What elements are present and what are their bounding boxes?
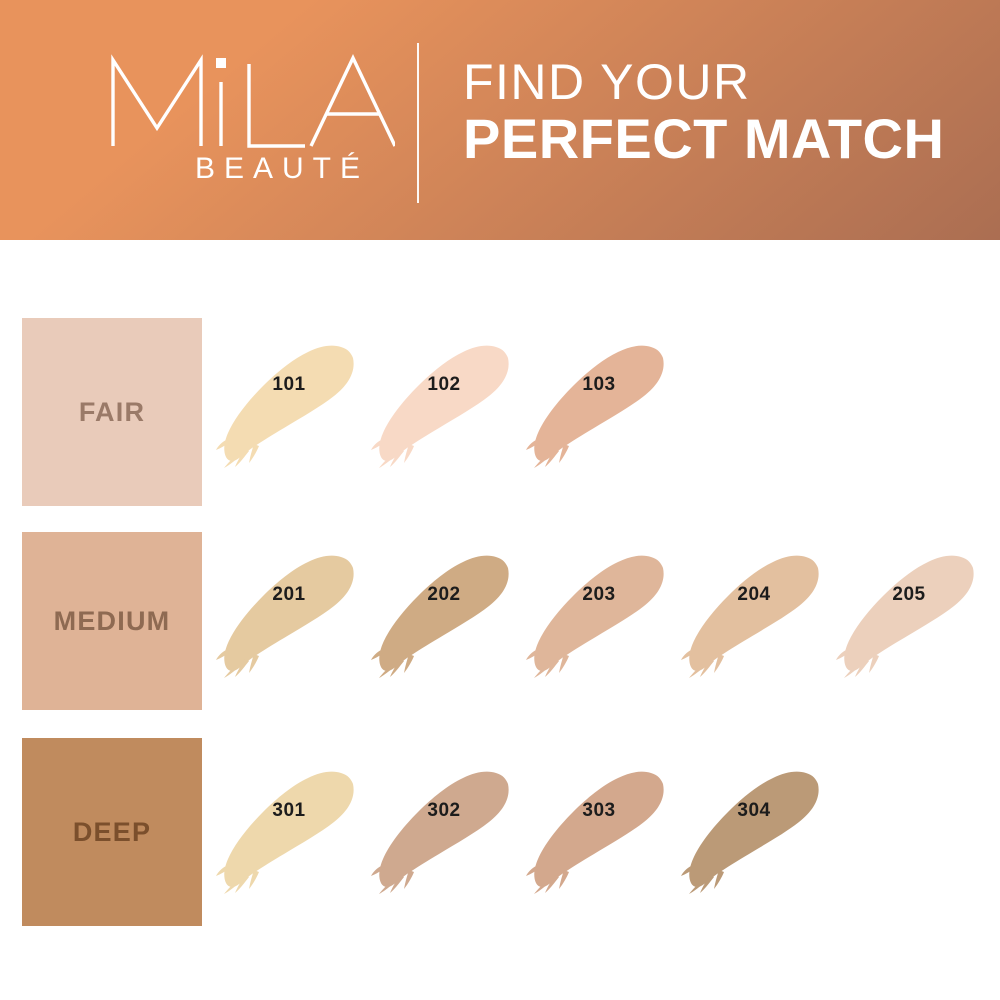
shade-swatch-301[interactable]: 301: [214, 762, 364, 897]
shade-swatch-304[interactable]: 304: [679, 762, 829, 897]
foundation-smear-icon: [524, 546, 674, 681]
shade-swatch-103[interactable]: 103: [524, 336, 674, 471]
foundation-smear-icon: [524, 336, 674, 471]
shade-swatch-205[interactable]: 205: [834, 546, 984, 681]
foundation-smear-icon: [369, 336, 519, 471]
category-block-medium[interactable]: MEDIUM: [22, 532, 202, 710]
shade-code-label: 303: [524, 800, 674, 822]
shade-swatch-102[interactable]: 102: [369, 336, 519, 471]
shade-row-fair: FAIR 101 102 103: [0, 318, 1000, 506]
shade-code-label: 201: [214, 584, 364, 606]
foundation-smear-icon: [834, 546, 984, 681]
category-block-deep[interactable]: DEEP: [22, 738, 202, 926]
logo-wordmark-mila: [105, 42, 395, 150]
logo-i-dot-icon: [216, 58, 226, 68]
shade-code-label: 203: [524, 584, 674, 606]
category-label: DEEP: [73, 817, 151, 848]
shade-swatch-201[interactable]: 201: [214, 546, 364, 681]
tagline-line-2: PERFECT MATCH: [463, 110, 963, 169]
shade-swatch-101[interactable]: 101: [214, 336, 364, 471]
header-tagline: FIND YOUR PERFECT MATCH: [463, 57, 963, 169]
tagline-line-1: FIND YOUR: [463, 57, 963, 108]
foundation-smear-icon: [214, 762, 364, 897]
shade-code-label: 302: [369, 800, 519, 822]
shade-chart-page: BEAUTÉ FIND YOUR PERFECT MATCH FAIR 101 …: [0, 0, 1000, 1000]
mila-wordmark-icon: [105, 42, 395, 154]
shade-swatch-202[interactable]: 202: [369, 546, 519, 681]
foundation-smear-icon: [214, 336, 364, 471]
shade-code-label: 204: [679, 584, 829, 606]
category-block-fair[interactable]: FAIR: [22, 318, 202, 506]
shade-swatch-203[interactable]: 203: [524, 546, 674, 681]
foundation-smear-icon: [679, 762, 829, 897]
shade-code-label: 205: [834, 584, 984, 606]
shade-code-label: 101: [214, 374, 364, 396]
shade-code-label: 103: [524, 374, 674, 396]
foundation-smear-icon: [214, 546, 364, 681]
shade-chart: FAIR 101 102 103MEDIUM 201 202 203: [0, 240, 1000, 1000]
foundation-smear-icon: [369, 762, 519, 897]
page-header: BEAUTÉ FIND YOUR PERFECT MATCH: [0, 0, 1000, 240]
brand-logo[interactable]: BEAUTÉ: [105, 42, 395, 202]
header-divider: [417, 43, 419, 203]
category-label: FAIR: [79, 397, 145, 428]
shade-row-medium: MEDIUM 201 202 203 204 205: [0, 532, 1000, 710]
shade-code-label: 202: [369, 584, 519, 606]
shade-swatch-302[interactable]: 302: [369, 762, 519, 897]
shade-swatch-204[interactable]: 204: [679, 546, 829, 681]
shade-code-label: 301: [214, 800, 364, 822]
foundation-smear-icon: [679, 546, 829, 681]
shade-row-deep: DEEP 301 302 303 304: [0, 738, 1000, 926]
category-label: MEDIUM: [54, 606, 171, 637]
shade-swatch-303[interactable]: 303: [524, 762, 674, 897]
header-inner: BEAUTÉ FIND YOUR PERFECT MATCH: [0, 0, 1000, 240]
logo-subtitle: BEAUTÉ: [167, 154, 397, 184]
shade-code-label: 304: [679, 800, 829, 822]
foundation-smear-icon: [369, 546, 519, 681]
foundation-smear-icon: [524, 762, 674, 897]
shade-code-label: 102: [369, 374, 519, 396]
